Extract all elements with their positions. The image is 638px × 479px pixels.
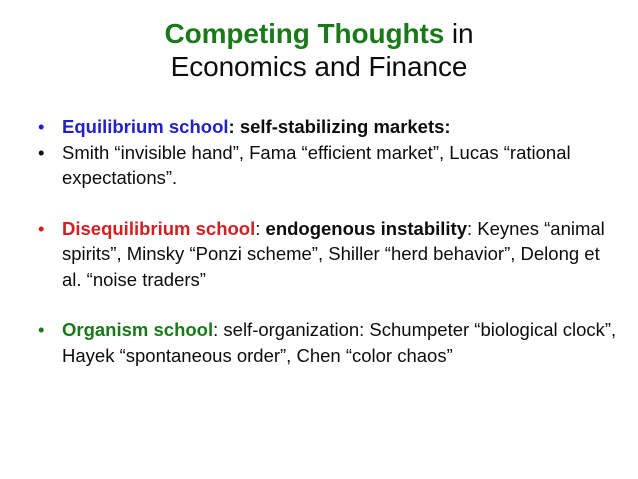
list-item-disequilibrium-school: •Disequilibrium school: endogenous insta… [30,216,620,293]
bullet-icon: • [38,140,58,166]
text-run: endogenous instability [266,218,467,239]
list-item-text: Organism school: self-organization: Schu… [62,319,616,366]
list-item-equilibrium-thinkers: •Smith “invisible hand”, Fama “efficient… [30,140,620,191]
text-run: : [255,218,265,239]
list-item-organism-school: •Organism school: self-organization: Sch… [30,317,620,368]
bullet-icon: • [38,317,58,343]
text-run: Smith “invisible hand”, Fama “efficient … [62,142,571,189]
bullet-icon: • [38,114,58,140]
bullet-list: •Equilibrium school: self-stabilizing ma… [30,114,620,368]
text-run: Equilibrium school [62,116,229,137]
list-item-text: Disequilibrium school: endogenous instab… [62,218,605,290]
slide-canvas: Competing Thoughts in Economics and Fina… [0,0,638,479]
text-run: Disequilibrium school [62,218,255,239]
title-line-2: Economics and Finance [40,50,598,83]
list-item-equilibrium-school: •Equilibrium school: self-stabilizing ma… [30,114,620,140]
list-item-text: Equilibrium school: self-stabilizing mar… [62,116,451,137]
text-run: self-stabilizing markets: [240,116,451,137]
title-rest-line1: in [444,18,473,49]
title-accent-text: Competing Thoughts [165,18,445,49]
text-run: : [229,116,240,137]
page-title: Competing Thoughts in Economics and Fina… [0,17,638,83]
bullet-icon: • [38,216,58,242]
list-item-text: Smith “invisible hand”, Fama “efficient … [62,142,571,189]
text-run: Organism school [62,319,213,340]
